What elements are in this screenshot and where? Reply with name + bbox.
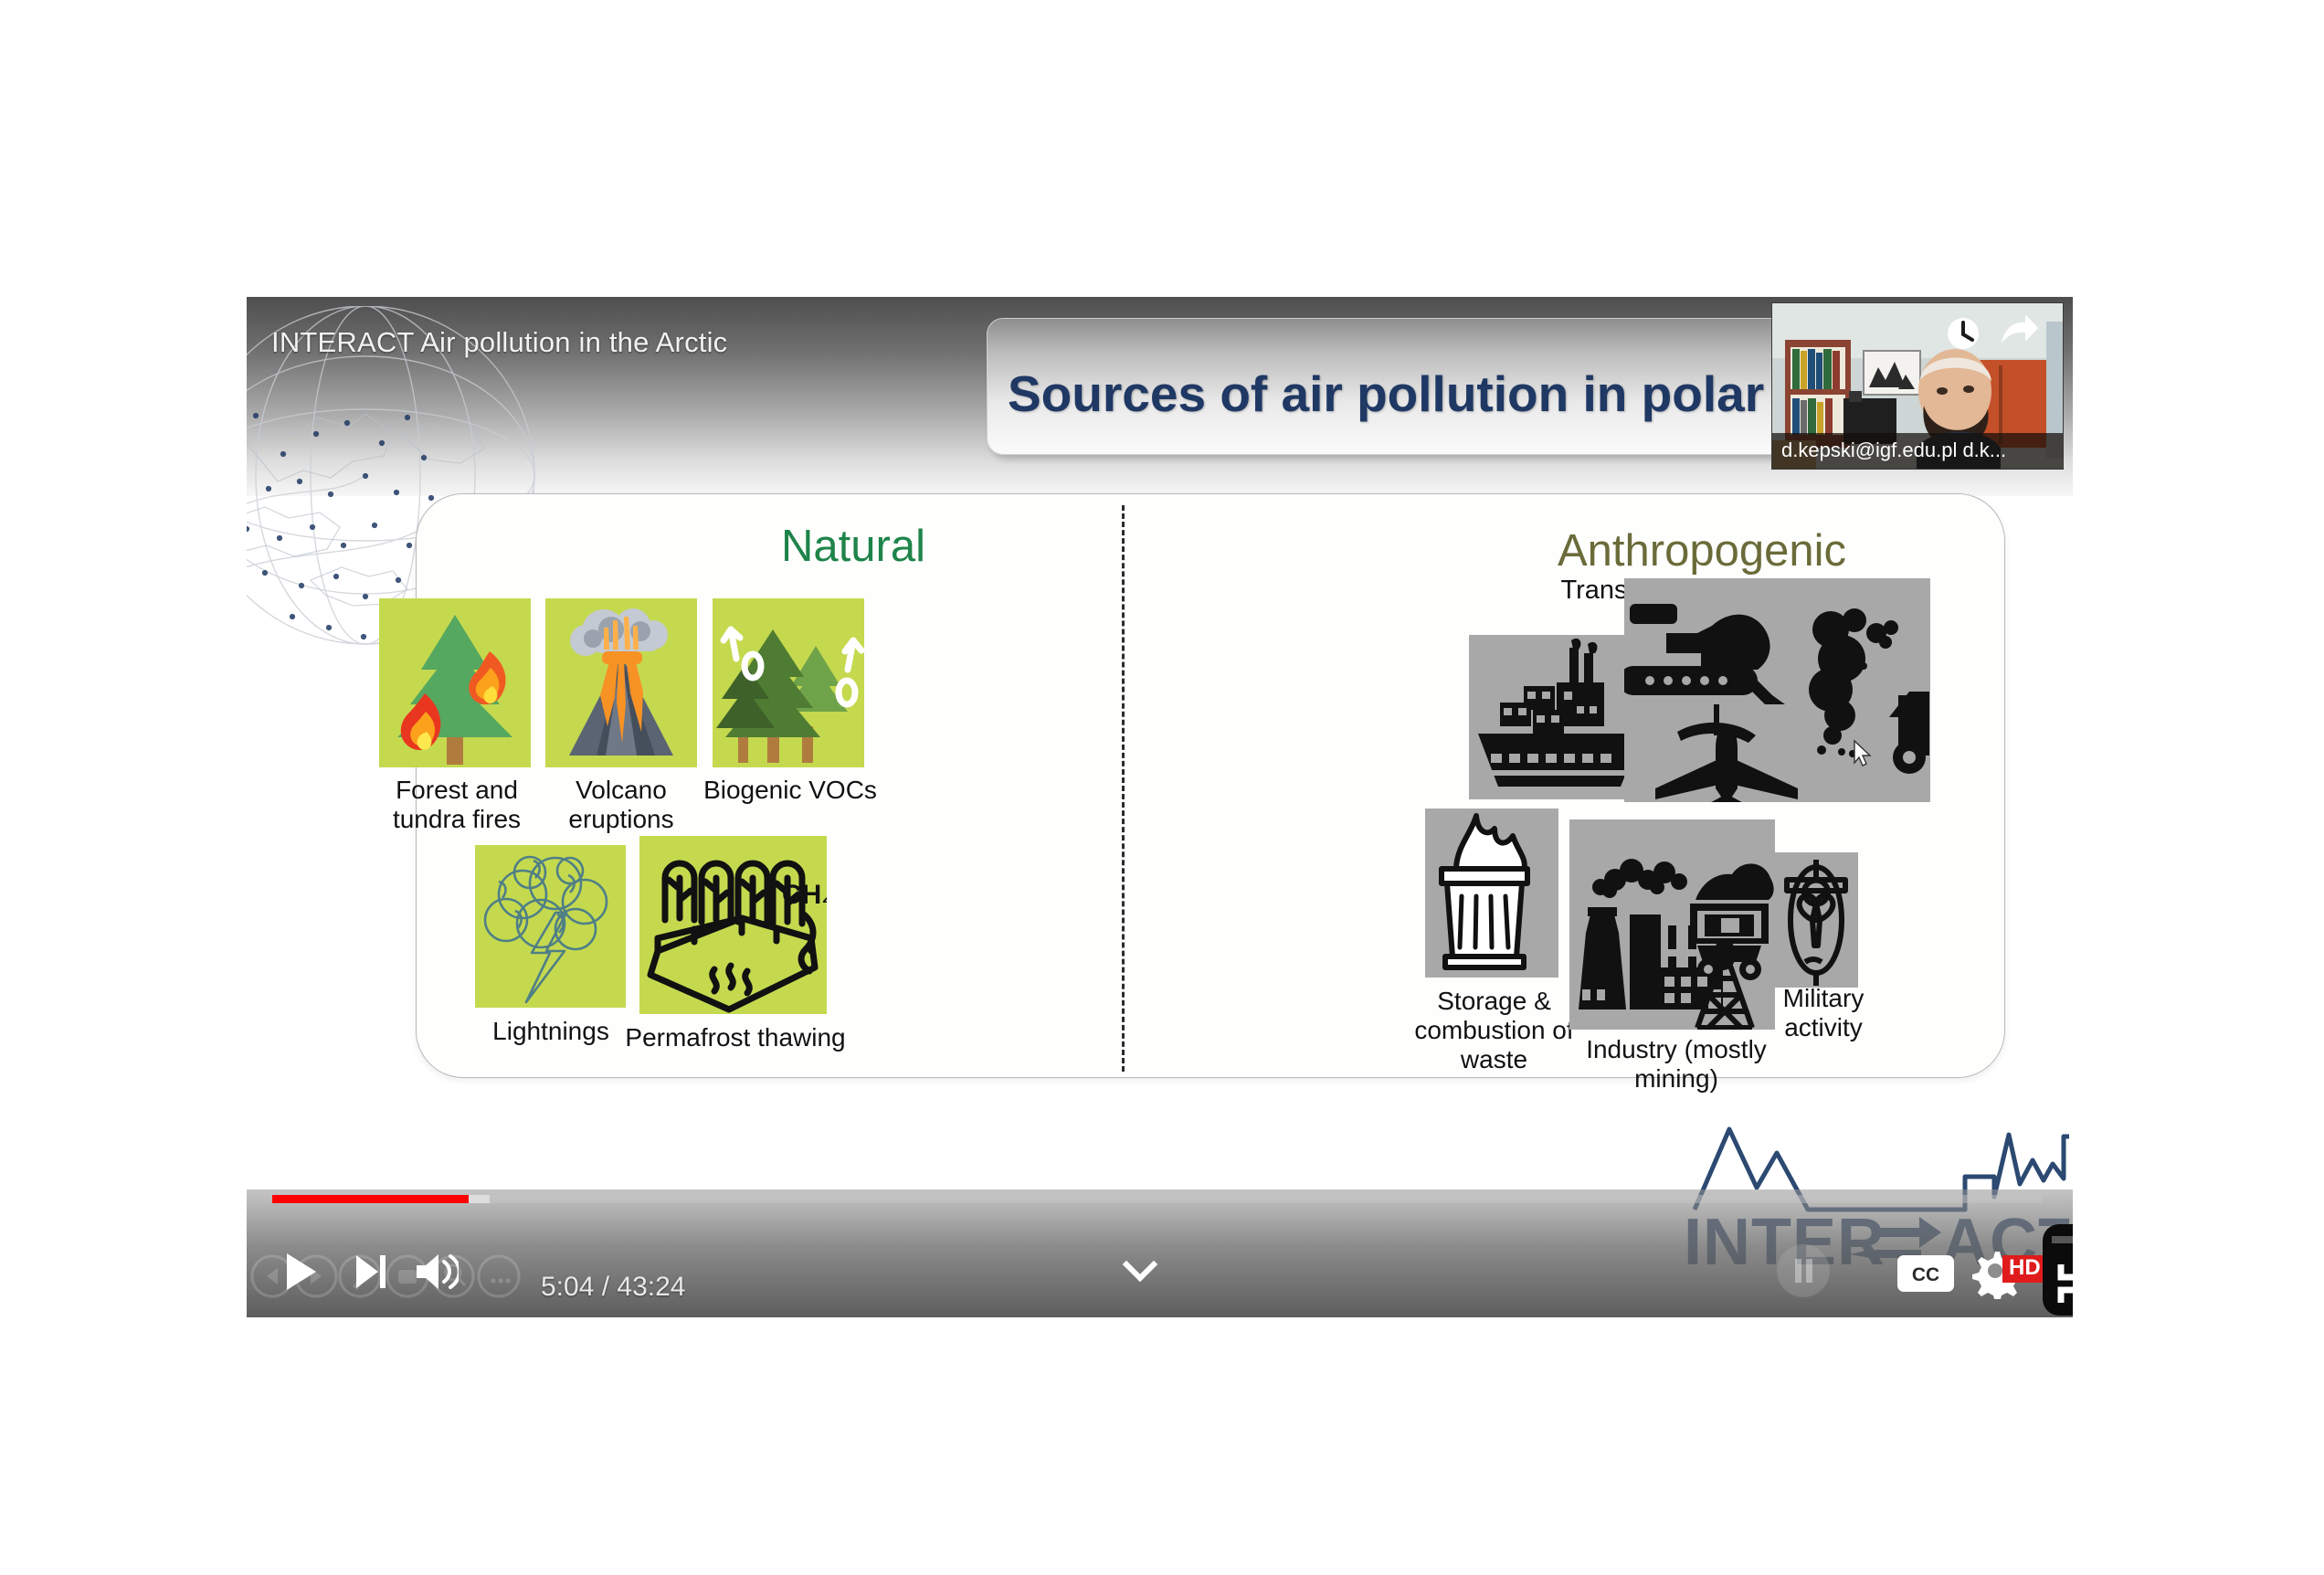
clock-icon[interactable] [1944,314,1982,357]
methane-badge: CH₄ [782,880,827,910]
progress-bar-track[interactable] [272,1195,2043,1203]
caption-military: Military activity [1769,984,1878,1042]
progress-bar-played [272,1195,469,1203]
caption-biogenic-vocs: Biogenic VOCs [694,776,886,805]
caption-volcano: Volcano eruptions [521,776,722,834]
fullscreen-exit-button[interactable]: +3 [2043,1224,2073,1316]
caption-permafrost: Permafrost thawing [621,1023,850,1052]
column-heading-anthropogenic: Anthropogenic [1558,525,1846,576]
tile-lightnings [475,845,626,1008]
webcam-pip[interactable]: d.kepski@igf.edu.pl d.k... [1771,302,2064,470]
quality-badge[interactable]: HD [2002,1255,2047,1283]
tile-permafrost: CH₄ [639,836,827,1014]
captions-label: CC [1912,1264,1939,1285]
player-controls-bar[interactable]: 5:04 / 43:24 CC [247,1189,2073,1317]
next-video-button[interactable] [345,1246,393,1302]
caption-industry: Industry (mostly mining) [1544,1035,1809,1094]
button-top-bar [2052,1236,2073,1243]
slide-title-box: Sources of air pollution in polar re [987,318,1791,455]
tile-industry [1569,819,1775,1030]
webcam-participant-name: d.kepski@igf.edu.pl d.k... [1772,433,2063,469]
video-player[interactable]: INTERACT Air pollution in the Arctic Sou… [247,297,2073,1317]
tile-biogenic-vocs [713,598,864,767]
pause-button[interactable] [1775,1242,1832,1304]
tile-military [1774,852,1858,988]
slide-title-text: Sources of air pollution in polar re [1008,365,1791,423]
chevron-down-icon[interactable] [1119,1255,1161,1291]
play-button[interactable] [276,1246,323,1302]
tile-transport-vehicles [1624,578,1930,802]
time-display: 5:04 / 43:24 [541,1272,685,1303]
caption-lightnings: Lightnings [475,1017,627,1046]
video-title-overlay: INTERACT Air pollution in the Arctic [271,326,727,359]
column-heading-natural: Natural [781,521,925,572]
share-arrow-icon[interactable] [1998,312,2040,355]
column-divider [1122,505,1125,1072]
tile-volcano [545,598,697,767]
captions-button[interactable]: CC [1896,1253,1956,1298]
tile-waste [1425,809,1558,978]
volume-button[interactable] [409,1248,459,1300]
tile-forest-fires [379,598,531,767]
